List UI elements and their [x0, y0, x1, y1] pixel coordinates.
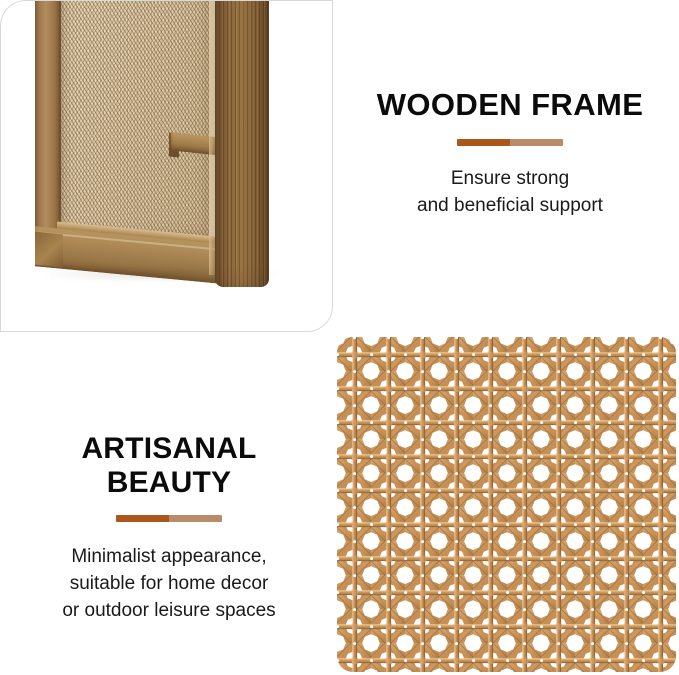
divider-half-light: [169, 515, 222, 522]
feature-block-artisanal-beauty: ARTISANAL BEAUTY Minimalist appearance, …: [8, 432, 330, 625]
product-ground-shadow: [47, 267, 277, 281]
feature-divider-artisanal-beauty: [116, 515, 222, 522]
cabinet-cane-inset-panel: [59, 0, 209, 238]
feature-heading-artisanal-beauty: ARTISANAL BEAUTY: [8, 432, 330, 499]
feature-body-artisanal-beauty: Minimalist appearance, suitable for home…: [8, 544, 330, 625]
wooden-cabinet-corner: [19, 0, 319, 297]
feature-block-wooden-frame: WOODEN FRAME Ensure strong and beneficia…: [345, 88, 675, 220]
feature-collage: WOODEN FRAME Ensure strong and beneficia…: [0, 0, 679, 675]
cabinet-corner-foot: [35, 232, 63, 268]
product-photo-stage: [1, 1, 332, 331]
cabinet-right-post: [215, 0, 269, 287]
feature-divider-wooden-frame: [457, 139, 563, 146]
divider-half-light: [510, 139, 563, 146]
cane-swatch-weave: [337, 337, 676, 672]
cabinet-left-stile: [35, 0, 61, 257]
rattan-cane-weave-graphic: [337, 337, 676, 672]
feature-body-wooden-frame: Ensure strong and beneficial support: [345, 166, 675, 220]
divider-half-dark: [116, 515, 169, 522]
feature-heading-wooden-frame: WOODEN FRAME: [345, 88, 675, 123]
rattan-cane-swatch-panel: [337, 337, 676, 672]
product-photo-panel: [0, 0, 333, 332]
divider-half-dark: [457, 139, 510, 146]
